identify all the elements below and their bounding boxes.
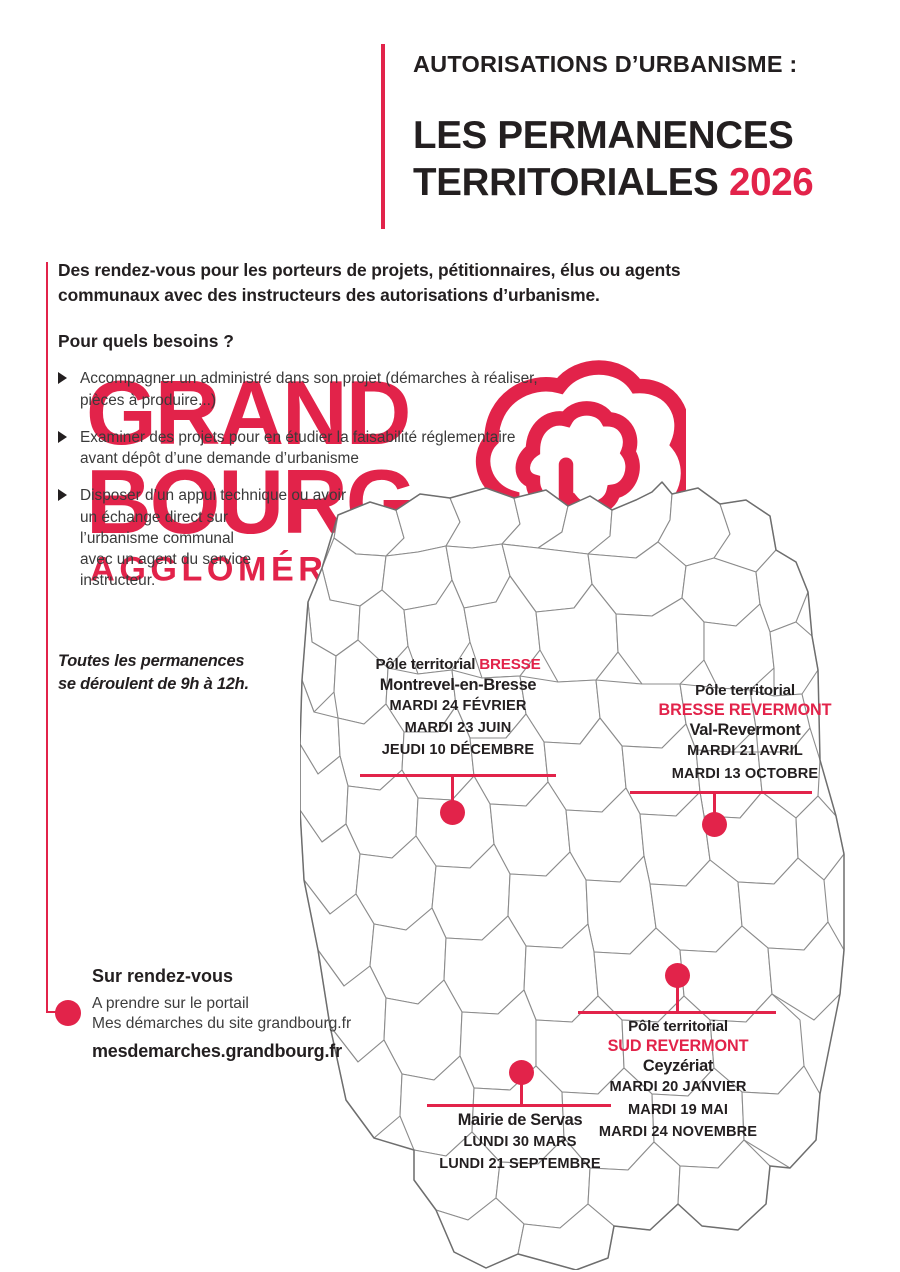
marker-stem-sud-revermont [676,985,679,1011]
triangle-bullet-icon [58,489,67,501]
map-marker-bresse[interactable] [440,800,465,825]
intro-lead: Des rendez-vous pour les porteurs de pro… [58,258,848,307]
list-item: Examiner des projets pour en étudier la … [58,427,848,470]
page-title-line1: LES PERMANENCES [413,112,883,159]
date-bresse-revermont-1: MARDI 21 AVRIL [634,740,856,762]
pole-prefix: Pôle territorial [375,656,479,673]
header-text-block: AUTORISATIONS D’URBANISME : LES PERMANEN… [413,52,883,207]
grand-bourg-agglomeration-logo: GRAND BOURG AGGLOMÉRATION [86,78,376,198]
map-label-bresse: Pôle territorial BRESSE Montrevel-en-Bre… [358,656,558,762]
pole-line-bresse: Pôle territorial BRESSE [358,656,558,675]
intro-question: Pour quels besoins ? [58,331,848,352]
map-label-bresse-revermont: Pôle territorial BRESSE REVERMONT Val-Re… [634,682,856,785]
pole-prefix-bresse-revermont: Pôle territorial [634,682,856,701]
date-bresse-2: MARDI 23 JUIN [358,717,558,739]
appointment-line1: A prendre sur le portail [92,994,452,1014]
triangle-bullet-icon [58,372,67,384]
leader-line-sud-revermont [578,1011,776,1014]
pole-name: BRESSE [479,656,540,673]
page-title-line2-wrap: TERRITORIALES 2026 [413,159,883,206]
marker-stem-servas [520,1082,523,1106]
date-servas-2: LUNDI 21 SEPTEMBRE [420,1153,620,1175]
header-kicker: AUTORISATIONS D’URBANISME : [413,52,883,78]
page-title-line2: TERRITORIALES [413,161,719,204]
date-sud-revermont-1: MARDI 20 JANVIER [578,1076,778,1098]
page-title-year: 2026 [729,161,813,204]
date-bresse-1: MARDI 24 FÉVRIER [358,695,558,717]
left-accent-rule [46,262,48,1013]
date-bresse-3: JEUDI 10 DÉCEMBRE [358,739,558,761]
map-marker-bresse-revermont[interactable] [702,812,727,837]
town-name-bresse: Montrevel-en-Bresse [358,675,558,696]
bullet-line: avant dépôt d’une demande d’urbanisme [80,448,848,469]
pole-name-sud-revermont: SUD REVERMONT [578,1037,778,1056]
bullet-line: Examiner des projets pour en étudier la … [80,427,848,448]
pole-prefix-sud-revermont: Pôle territorial [578,1018,778,1037]
leader-line-bresse-revermont [630,791,812,794]
appointment-line2: Mes démarches du site grandbourg.fr [92,1014,452,1034]
appointment-title: Sur rendez-vous [92,966,452,987]
leader-line-servas [427,1104,611,1107]
pole-name-bresse-revermont: BRESSE REVERMONT [634,701,856,720]
map-label-servas: Mairie de Servas LUNDI 30 MARS LUNDI 21 … [420,1110,620,1175]
bullet-line: pièces à produire...) [80,390,848,411]
town-name-servas: Mairie de Servas [420,1110,620,1131]
list-item: Accompagner un administré dans son proje… [58,368,848,411]
page-title: LES PERMANENCES TERRITORIALES 2026 [413,112,883,207]
appointment-block: Sur rendez-vous A prendre sur le portail… [92,966,452,1062]
town-name-ceyzeriat: Ceyzériat [578,1056,778,1077]
date-servas-1: LUNDI 30 MARS [420,1131,620,1153]
poster-canvas: GRAND BOURG AGGLOMÉRATION AUTORISATIONS … [0,0,900,1272]
bullet-line: Accompagner un administré dans son proje… [80,368,848,389]
intro-lead-line2: communaux avec des instructeurs des auto… [58,285,600,305]
leader-line-bresse [360,774,556,777]
town-name-val-revermont: Val-Revermont [634,720,856,741]
header-vertical-divider [381,44,385,229]
intro-lead-line1: Des rendez-vous pour les porteurs de pro… [58,260,680,280]
triangle-bullet-icon [58,431,67,443]
appointment-url[interactable]: mesdemarches.grandbourg.fr [92,1041,452,1062]
appointment-bullet-dot [55,1000,81,1026]
date-bresse-revermont-2: MARDI 13 OCTOBRE [634,763,856,785]
